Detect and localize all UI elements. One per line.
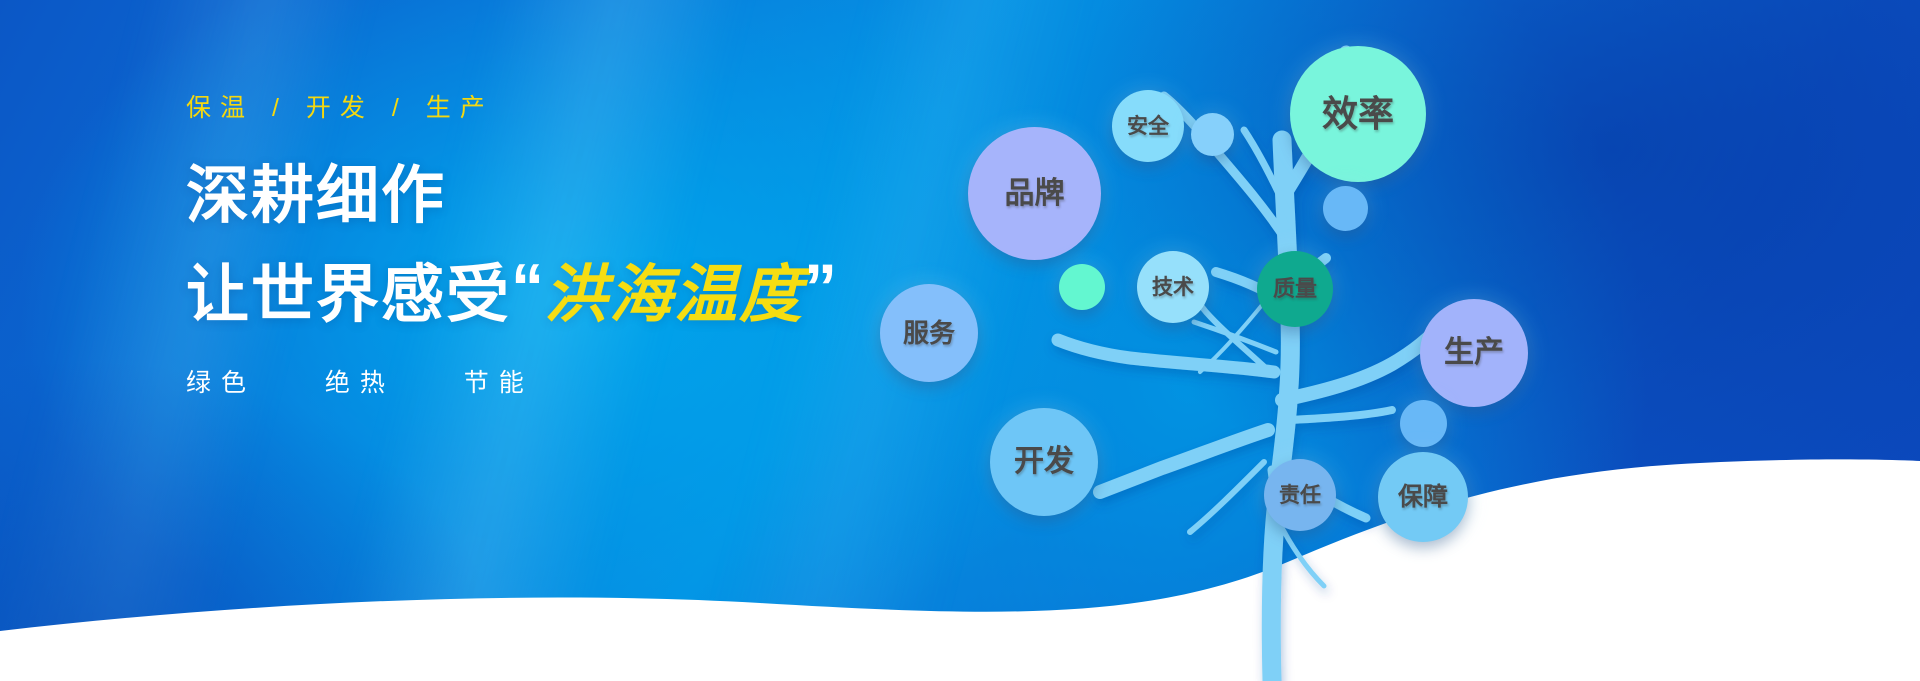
bubble-label: 安全 bbox=[1127, 116, 1169, 137]
bubble-pinpai: 品牌 bbox=[968, 127, 1101, 260]
kicker-line: 保温 / 开发 / 生产 bbox=[186, 96, 946, 121]
bubble-label: 品牌 bbox=[1005, 179, 1065, 209]
kicker-item-2: 开发 bbox=[306, 94, 374, 122]
bubble-shengchan: 生产 bbox=[1420, 299, 1528, 407]
bubble-zhiliang: 质量 bbox=[1257, 251, 1333, 327]
bubble-fuwu: 服务 bbox=[880, 284, 978, 382]
bubble-zeren: 责任 bbox=[1264, 459, 1336, 531]
bubble-jishu: 技术 bbox=[1137, 251, 1209, 323]
quote-open-mark: “ bbox=[511, 254, 544, 320]
copy-block: 保温 / 开发 / 生产 深耕细作 让世界感受 “ 洪海温度 ” 绿色 绝热 节… bbox=[186, 96, 946, 396]
bubble-label: 开发 bbox=[1014, 447, 1074, 477]
subline-item-1: 绿色 bbox=[186, 369, 256, 397]
headline-accent-text: 洪海温度 bbox=[544, 264, 804, 327]
headline-plain-text: 让世界感受 bbox=[186, 264, 511, 327]
subline-spacer-1 bbox=[273, 369, 308, 397]
bubble-kaifa: 开发 bbox=[990, 408, 1098, 516]
promo-banner: 保温 / 开发 / 生产 深耕细作 让世界感受 “ 洪海温度 ” 绿色 绝热 节… bbox=[0, 0, 1920, 681]
bubble-label: 效率 bbox=[1322, 96, 1394, 132]
subline-item-2: 绝热 bbox=[325, 369, 395, 397]
bubble-label: 服务 bbox=[903, 320, 955, 346]
bubble-dot3 bbox=[1059, 264, 1105, 310]
bubble-label: 技术 bbox=[1152, 277, 1194, 298]
bubble-label: 生产 bbox=[1444, 338, 1504, 368]
headline-line-2: 让世界感受 “ 洪海温度 ” bbox=[186, 260, 946, 327]
bubble-anquan: 安全 bbox=[1112, 90, 1184, 162]
kicker-item-1: 保温 bbox=[186, 94, 254, 122]
subline: 绿色 绝热 节能 bbox=[186, 371, 946, 396]
bubble-xiaolv: 效率 bbox=[1290, 46, 1426, 182]
subline-item-3: 节能 bbox=[464, 369, 534, 397]
bubble-dot4 bbox=[1400, 400, 1447, 447]
bubble-label: 质量 bbox=[1273, 278, 1317, 300]
kicker-item-3: 生产 bbox=[426, 94, 494, 122]
kicker-separator-2: / bbox=[390, 94, 410, 122]
subline-spacer-2 bbox=[412, 369, 447, 397]
bubble-label: 保障 bbox=[1398, 485, 1448, 510]
bubble-baozhang: 保障 bbox=[1378, 452, 1468, 542]
quote-close-mark: ” bbox=[804, 254, 837, 320]
kicker-separator-1: / bbox=[270, 94, 290, 122]
headline-line-1: 深耕细作 bbox=[186, 165, 946, 228]
bubble-dot1 bbox=[1191, 113, 1234, 156]
bubble-label: 责任 bbox=[1279, 485, 1321, 506]
bubble-dot2 bbox=[1323, 186, 1368, 231]
